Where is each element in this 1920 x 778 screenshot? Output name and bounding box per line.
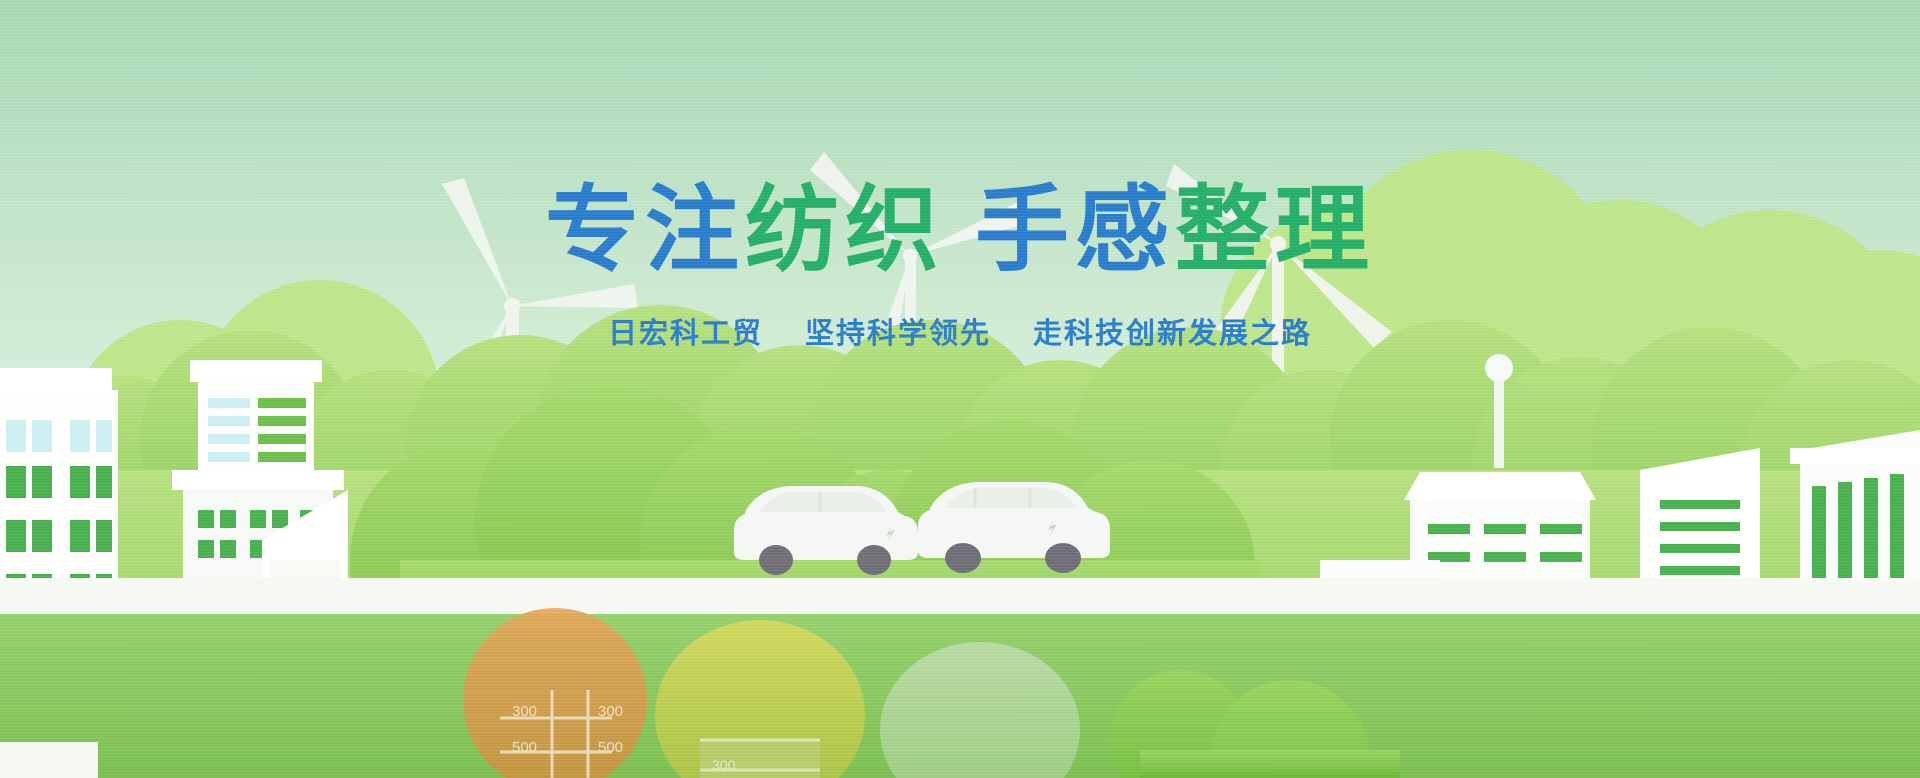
subtitle-part-1: 日宏科工贸 xyxy=(608,318,763,350)
svg-text:300: 300 xyxy=(512,703,537,720)
svg-text:300: 300 xyxy=(598,703,623,720)
headline-segment-4: 整理 xyxy=(1175,177,1375,282)
svg-text:300: 300 xyxy=(712,757,736,773)
subtitle-part-3: 走科技创新发展之路 xyxy=(1033,318,1312,350)
headline-segment-1: 专注 xyxy=(545,177,745,282)
banner-headline: 专注纺织手感整理 xyxy=(0,183,1920,277)
subtitle-part-2: 坚持科学领先 xyxy=(805,318,991,350)
eco-textile-banner: 300 300 500 500 300 专 xyxy=(0,0,1920,778)
headline-segment-2: 纺织 xyxy=(745,177,945,282)
svg-text:500: 500 xyxy=(512,739,537,756)
scene-illustration: 300 300 500 500 300 xyxy=(0,0,1920,778)
foreground-panel-left xyxy=(0,742,98,778)
headline-segment-3: 手感 xyxy=(975,177,1175,282)
banner-subtitle: 日宏科工贸坚持科学领先走科技创新发展之路 xyxy=(0,310,1920,352)
svg-text:500: 500 xyxy=(598,739,623,756)
